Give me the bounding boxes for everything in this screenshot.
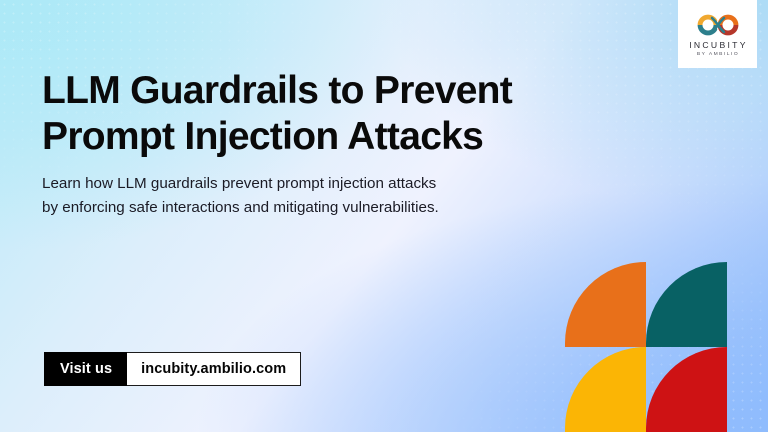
logo-tagline: BY AMBILIO bbox=[696, 53, 739, 58]
decorative-shape-group bbox=[565, 262, 727, 432]
promo-banner: INCUBITY BY AMBILIO LLM Guardrails to Pr… bbox=[0, 0, 768, 432]
visit-us-cta[interactable]: Visit us incubity.ambilio.com bbox=[44, 352, 301, 386]
quarter-circle-teal bbox=[646, 262, 727, 347]
headline-line-1: LLM Guardrails to Prevent bbox=[42, 68, 602, 114]
quarter-circle-yellow bbox=[565, 347, 646, 432]
headline-line-2: Prompt Injection Attacks bbox=[42, 114, 602, 160]
visit-us-url[interactable]: incubity.ambilio.com bbox=[127, 352, 301, 386]
page-subtitle: Learn how LLM guardrails prevent prompt … bbox=[42, 172, 587, 219]
logo-wordmark: INCUBITY bbox=[687, 41, 748, 50]
visit-us-label: Visit us bbox=[44, 352, 127, 386]
quarter-circle-orange bbox=[565, 262, 646, 347]
brand-logo-card[interactable]: INCUBITY BY AMBILIO bbox=[678, 0, 757, 68]
subtitle-line-2: by enforcing safe interactions and mitig… bbox=[42, 196, 587, 220]
subtitle-line-1: Learn how LLM guardrails prevent prompt … bbox=[42, 172, 587, 196]
interlocking-rings-icon bbox=[695, 12, 741, 38]
page-title: LLM Guardrails to Prevent Prompt Injecti… bbox=[42, 68, 602, 160]
quarter-circle-red bbox=[646, 347, 727, 432]
